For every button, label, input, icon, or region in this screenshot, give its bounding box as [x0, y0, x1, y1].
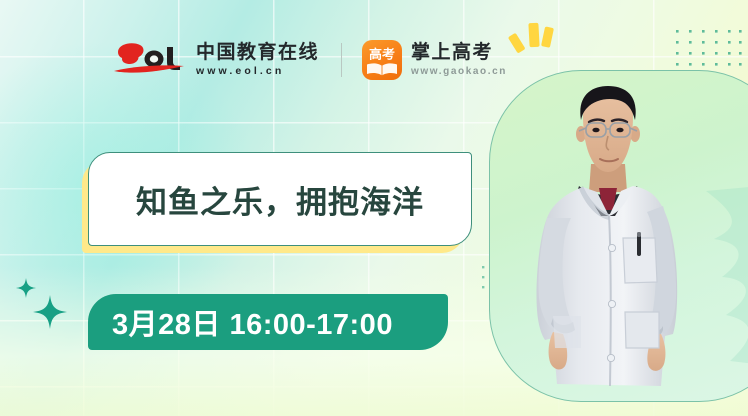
brand-divider — [341, 43, 342, 77]
dot-grid — [676, 30, 742, 68]
eol-brand-lockup: 中国教育在线 www.eol.cn — [112, 40, 319, 80]
title-card: 知鱼之乐，拥抱海洋 — [88, 152, 472, 246]
gaokao-url: www.gaokao.cn — [411, 67, 507, 77]
page-title: 知鱼之乐，拥抱海洋 — [136, 177, 424, 222]
eol-url: www.eol.cn — [196, 66, 319, 77]
speaker-portrait — [513, 86, 703, 406]
event-datetime-bar: 3月28日 16:00-17:00 — [88, 294, 448, 350]
live-event-poster: 中国教育在线 www.eol.cn 高考 掌上高考 www.gaokao.cn — [0, 0, 748, 416]
gaokao-app-icon: 高考 — [362, 40, 402, 80]
gaokao-brand-lockup: 高考 掌上高考 www.gaokao.cn — [362, 40, 507, 80]
eol-wordmark: 中国教育在线 www.eol.cn — [196, 43, 319, 77]
eol-name-cn: 中国教育在线 — [196, 43, 319, 62]
gaokao-icon-label: 高考 — [362, 44, 402, 62]
gaokao-wordmark: 掌上高考 www.gaokao.cn — [411, 43, 507, 77]
brand-header: 中国教育在线 www.eol.cn 高考 掌上高考 www.gaokao.cn — [112, 36, 507, 84]
eol-logo-icon — [112, 40, 186, 80]
gaokao-name-cn: 掌上高考 — [411, 43, 507, 62]
open-book-icon — [366, 62, 398, 77]
title-card-wrap: 知鱼之乐，拥抱海洋 — [88, 152, 470, 244]
sparkle-icon — [33, 295, 67, 329]
burst-shape-icon — [696, 181, 748, 371]
yellow-rays-icon — [505, 22, 565, 60]
event-datetime: 3月28日 16:00-17:00 — [112, 301, 393, 343]
